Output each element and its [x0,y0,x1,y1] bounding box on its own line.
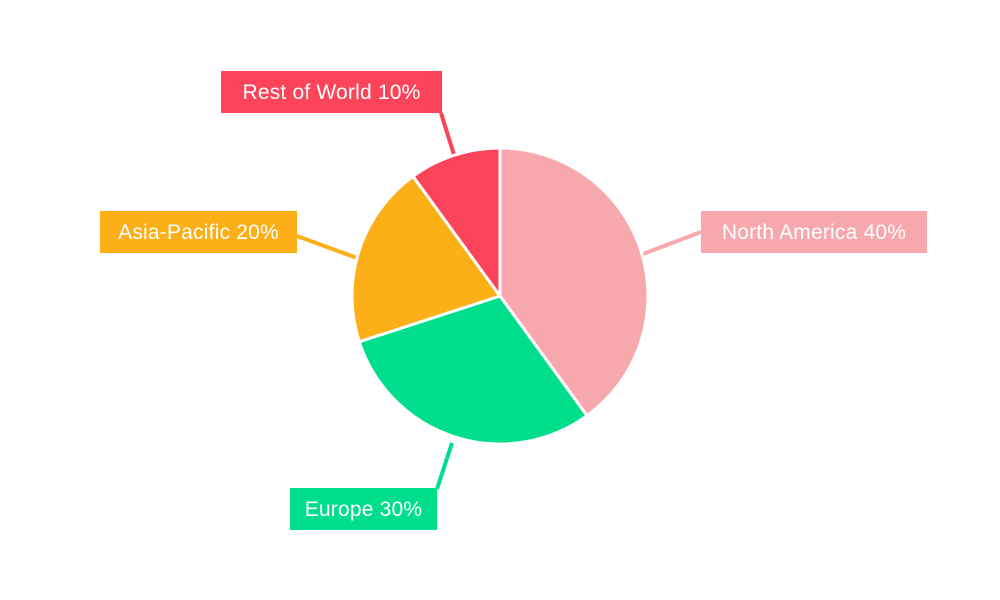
pie-chart-svg [0,0,1000,600]
pie-chart-container: North America 40%Europe 30%Asia-Pacific … [0,0,1000,600]
leader-line [643,232,701,254]
pie-slice-group [352,148,648,444]
data-label-europe[interactable]: Europe 30% [290,488,437,530]
leader-line [437,443,452,489]
leader-line [441,113,455,158]
data-label-north-america[interactable]: North America 40% [701,211,927,253]
leader-line [297,236,357,258]
data-label-rest-of-world[interactable]: Rest of World 10% [221,71,442,113]
data-label-asia-pacific[interactable]: Asia-Pacific 20% [100,211,297,253]
